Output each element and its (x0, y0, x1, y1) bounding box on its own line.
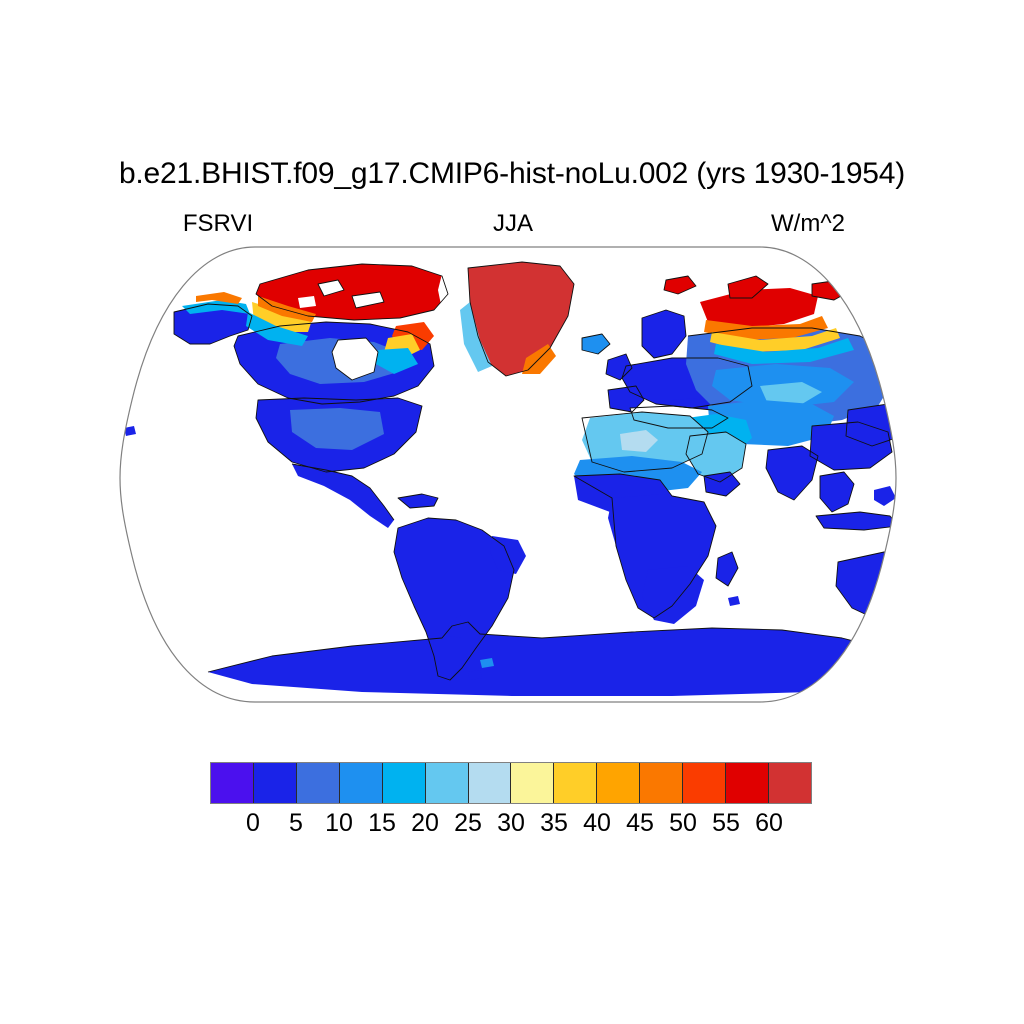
page-title: b.e21.BHIST.f09_g17.CMIP6-hist-noLu.002 … (0, 156, 1024, 192)
colorbar[interactable] (210, 762, 812, 804)
climate-map-figure: b.e21.BHIST.f09_g17.CMIP6-hist-noLu.002 … (0, 0, 1024, 1024)
colorbar-segment-10[interactable] (640, 763, 683, 803)
colorbar-tick-labels: 051015202530354045505560 (210, 808, 812, 840)
colorbar-tick-25: 25 (454, 808, 482, 838)
colorbar-segment-5[interactable] (426, 763, 469, 803)
colorbar-tick-10: 10 (325, 808, 353, 838)
region-tasmania (910, 624, 924, 636)
colorbar-segment-4[interactable] (383, 763, 426, 803)
season-label: JJA (413, 210, 613, 238)
colorbar-segment-3[interactable] (340, 763, 383, 803)
colorbar-tick-60: 60 (755, 808, 783, 838)
colorbar-tick-40: 40 (583, 808, 611, 838)
subtitle-row: FSRVI JJA W/m^2 (118, 209, 908, 239)
colorbar-tick-55: 55 (712, 808, 740, 838)
colorbar-tick-15: 15 (368, 808, 396, 838)
colorbar-tick-30: 30 (497, 808, 525, 838)
colorbar-tick-35: 35 (540, 808, 568, 838)
region-japan (896, 424, 918, 450)
region-archipelago-channel-3 (298, 296, 316, 308)
colorbar-segment-11[interactable] (683, 763, 726, 803)
colorbar-tick-50: 50 (669, 808, 697, 838)
world-map (112, 240, 924, 710)
region-new-guinea (894, 516, 924, 538)
colorbar-segment-13[interactable] (769, 763, 811, 803)
colorbar-segment-9[interactable] (597, 763, 640, 803)
region-chukotka-warm (870, 320, 908, 340)
units-label: W/m^2 (708, 210, 908, 238)
colorbar-tick-45: 45 (626, 808, 654, 838)
colorbar-segment-12[interactable] (726, 763, 769, 803)
colorbar-segment-6[interactable] (469, 763, 512, 803)
colorbar-tick-20: 20 (411, 808, 439, 838)
colorbar-segment-2[interactable] (297, 763, 340, 803)
variable-label: FSRVI (118, 210, 318, 238)
colorbar-segment-0[interactable] (211, 763, 254, 803)
region-kamchatka (880, 340, 912, 374)
colorbar-tick-5: 5 (289, 808, 303, 838)
colorbar-segment-8[interactable] (554, 763, 597, 803)
colorbar-segment-7[interactable] (511, 763, 554, 803)
colorbar-tick-0: 0 (246, 808, 260, 838)
colorbar-segment-1[interactable] (254, 763, 297, 803)
